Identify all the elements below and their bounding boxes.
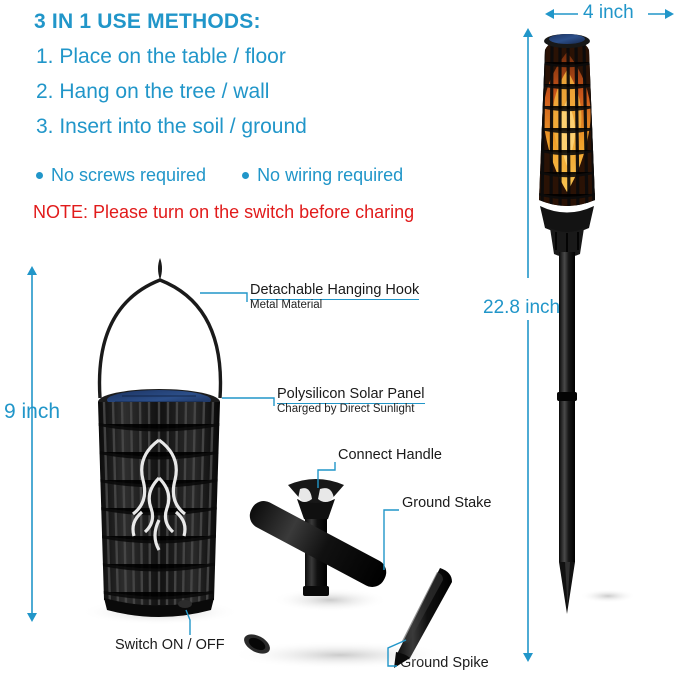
lantern-height-arrow: [27, 266, 37, 622]
solar-torch: [538, 34, 596, 614]
product-illustration: [0, 0, 679, 684]
hanging-lantern: [96, 258, 222, 617]
hook-tip: [158, 258, 162, 280]
product-infographic: 3 IN 1 USE METHODS: 1. Place on the tabl…: [0, 0, 679, 684]
torch-pole: [559, 252, 575, 562]
torch-width-arrow: [545, 9, 674, 19]
torch-shadow: [580, 589, 636, 603]
torch-solar-panel: [549, 34, 585, 44]
handle-shadow: [272, 588, 388, 612]
hanging-hook-handle: [100, 280, 221, 398]
flame-effect: [538, 40, 596, 210]
power-switch[interactable]: [178, 600, 192, 608]
torch-height-arrow: [523, 28, 533, 662]
